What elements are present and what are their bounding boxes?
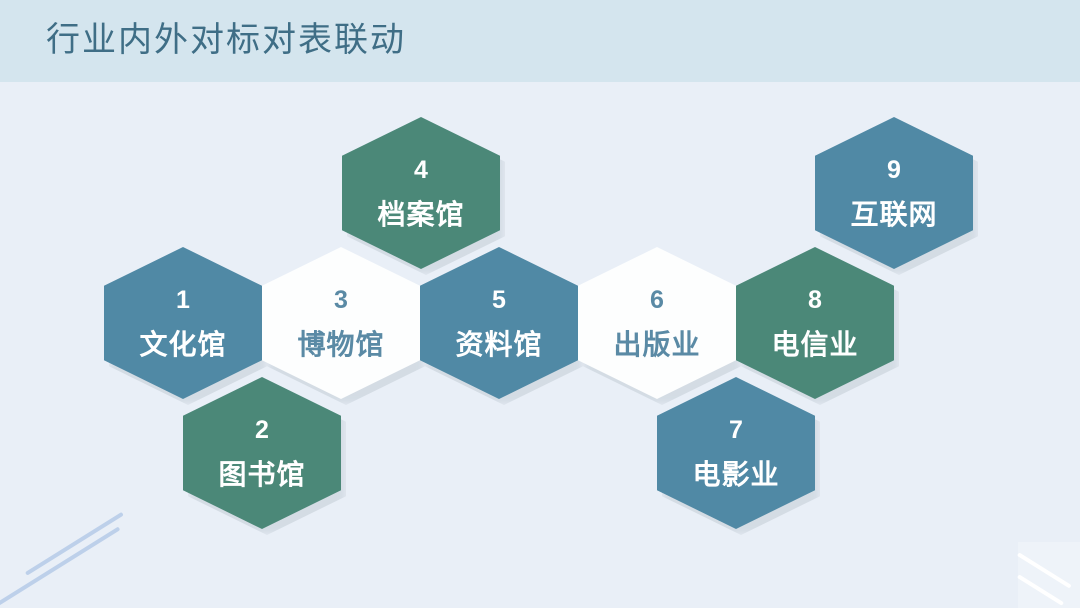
honeycomb-diagram: 1文化馆2图书馆3博物馆4档案馆5资料馆6出版业7电影业8电信业9互联网 <box>0 0 1080 608</box>
hexagon-number: 6 <box>650 288 664 313</box>
hexagon-label: 档案馆 <box>377 201 464 229</box>
hexagon-label: 互联网 <box>850 201 937 229</box>
hexagon-number: 2 <box>255 418 269 443</box>
hexagon-label: 出版业 <box>613 331 700 359</box>
hexagon-label: 电信业 <box>771 331 858 359</box>
hexagon-number: 4 <box>414 158 428 183</box>
hexagon-number: 3 <box>334 288 348 313</box>
hexagon-number: 5 <box>492 288 506 313</box>
hexagon-label: 图书馆 <box>218 461 305 489</box>
hexagon-number: 8 <box>808 288 822 313</box>
hexagon-label: 文化馆 <box>139 331 226 359</box>
hexagon-number: 9 <box>887 158 901 183</box>
hexagon-number: 7 <box>729 418 743 443</box>
slide-canvas: 行业内外对标对表联动 1文化馆2图书馆3博物馆4档案馆5资料馆6出版业7电影业8… <box>0 0 1080 608</box>
hexagon-label: 资料馆 <box>455 331 542 359</box>
hexagon-label: 电影业 <box>692 461 779 489</box>
hexagon-label: 博物馆 <box>297 331 384 359</box>
hexagon-number: 1 <box>176 288 190 313</box>
